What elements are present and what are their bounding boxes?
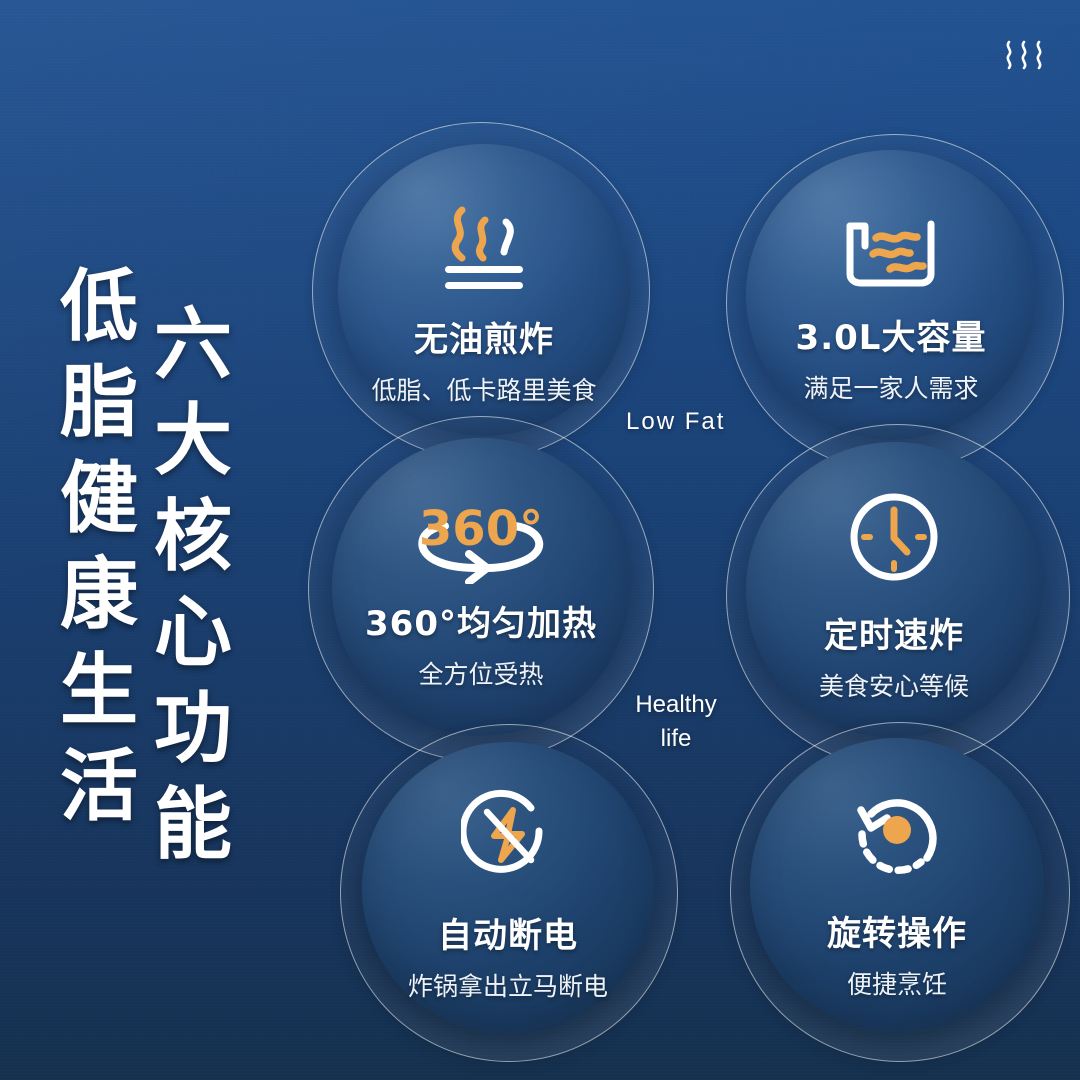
caption-healthy-line2: life: [634, 722, 718, 756]
headline-char: 生: [60, 652, 138, 730]
feature-subtitle: 满足一家人需求: [803, 369, 978, 405]
feature-title: 360°均匀加热: [365, 596, 597, 645]
headline-char: 大: [154, 402, 232, 480]
headline-char: 活: [60, 748, 138, 826]
headline-block: 低 脂 健 康 生 活 六 大 核 心 功 能: [60, 268, 232, 882]
feature-title: 自动断电: [438, 908, 578, 957]
headline-char: 脂: [60, 364, 138, 442]
headline-char: 能: [154, 786, 232, 864]
360-rotation-icon: 360°: [403, 498, 559, 584]
feature-bubble-auto-power-off[interactable]: 自动断电 炸锅拿出立马断电: [340, 724, 680, 1064]
caption-healthy-line1: Healthy: [634, 688, 718, 722]
wavy-lines-icon: [1002, 38, 1048, 77]
svg-text:360°: 360°: [419, 501, 543, 557]
steam-heat-icon: [432, 202, 536, 294]
feature-title: 3.0L大容量: [796, 310, 987, 359]
feature-bubble-rotary-control[interactable]: 旋转操作 便捷烹饪: [730, 722, 1072, 1064]
clock-icon: [847, 490, 941, 584]
feature-subtitle: 便捷烹饪: [847, 965, 947, 1001]
fry-basket-icon: [842, 212, 940, 288]
feature-title: 无油煎炸: [414, 312, 554, 361]
feature-subtitle: 美食安心等候: [819, 667, 969, 703]
feature-bubble-timer-frying[interactable]: 定时速炸 美食安心等候: [726, 424, 1072, 770]
feature-bubble-oil-free-frying[interactable]: 无油煎炸 低脂、低卡路里美食: [312, 122, 652, 462]
headline-char: 心: [154, 594, 232, 672]
rotary-knob-icon: [849, 782, 945, 878]
headline-char: 核: [154, 498, 232, 576]
power-off-bolt-icon: [461, 788, 555, 882]
feature-bubble-capacity[interactable]: 3.0L大容量 满足一家人需求: [726, 134, 1066, 474]
poster-canvas: 低 脂 健 康 生 活 六 大 核 心 功 能: [0, 0, 1080, 1080]
feature-title: 定时速炸: [824, 608, 964, 657]
feature-subtitle: 炸锅拿出立马断电: [408, 967, 608, 1003]
headline-char: 功: [154, 690, 232, 768]
headline-char: 健: [60, 460, 138, 538]
headline-column-six-features: 六 大 核 心 功 能: [154, 306, 232, 882]
headline-char: 低: [60, 268, 138, 346]
feature-bubble-even-heating[interactable]: 360° 360°均匀加热 全方位受热: [308, 416, 656, 764]
headline-column-low-fat-life: 低 脂 健 康 生 活: [60, 268, 138, 882]
headline-char: 六: [154, 306, 232, 384]
headline-char: 康: [60, 556, 138, 634]
feature-title: 旋转操作: [827, 906, 967, 955]
feature-subtitle: 低脂、低卡路里美食: [371, 371, 596, 407]
feature-subtitle: 全方位受热: [418, 655, 543, 691]
caption-healthy-life: Healthy life: [634, 688, 718, 756]
caption-low-fat: Low Fat: [626, 408, 725, 436]
